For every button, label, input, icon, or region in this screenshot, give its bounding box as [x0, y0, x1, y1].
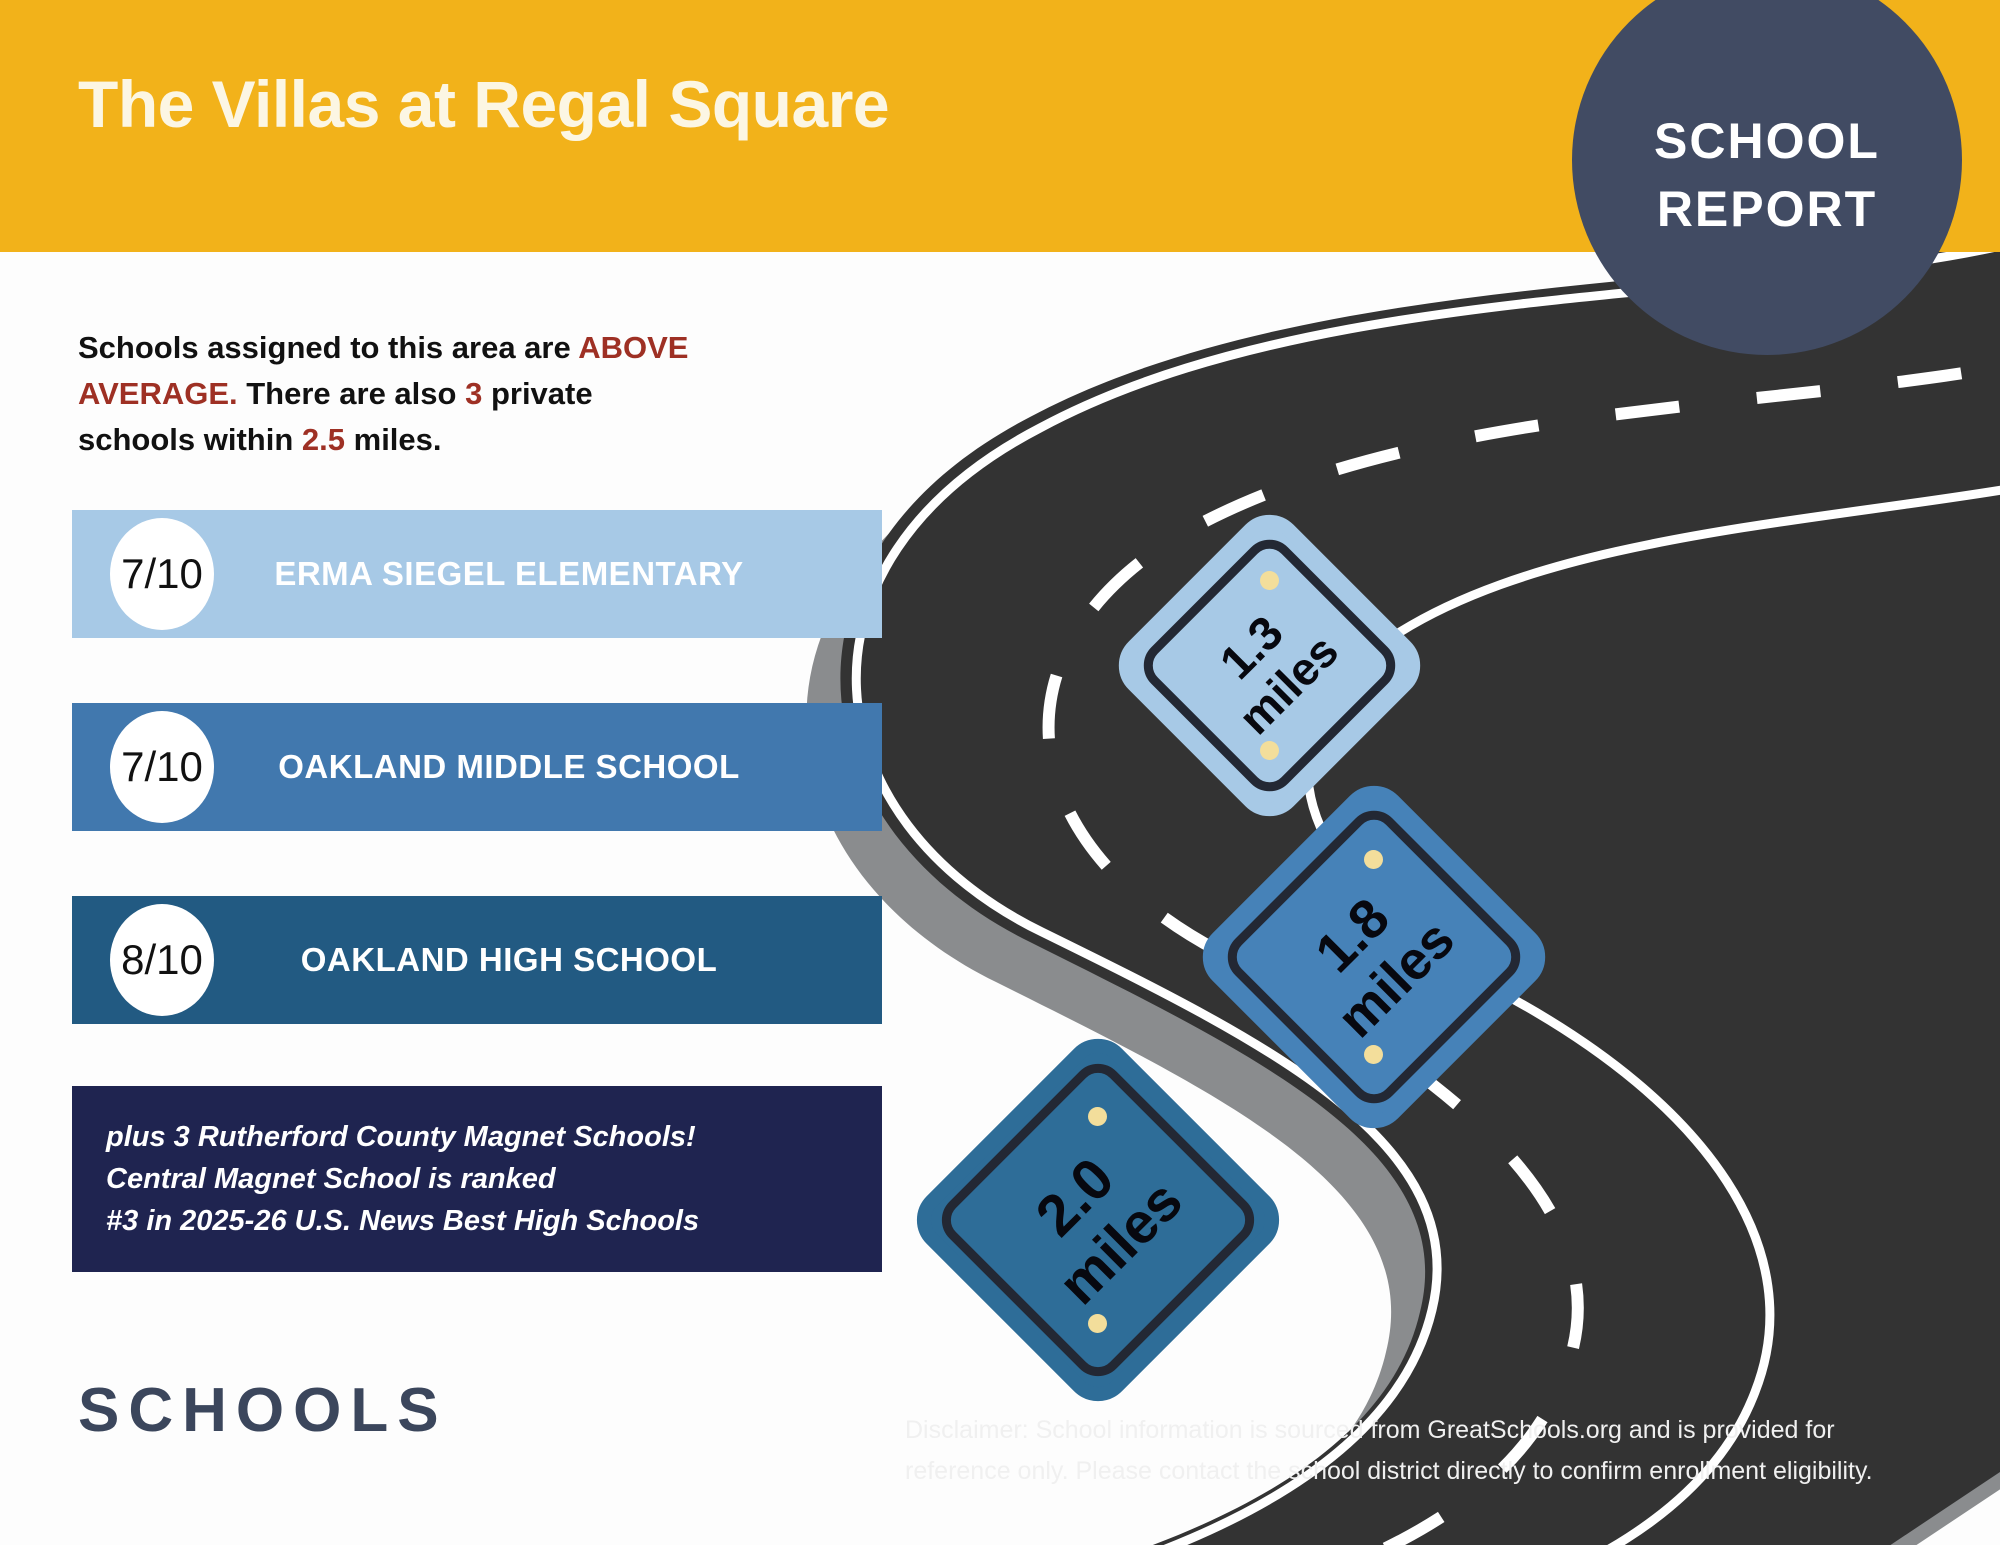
intro-highlight-count: 3: [465, 376, 482, 411]
magnet-schools-callout: plus 3 Rutherford County Magnet Schools!…: [72, 1086, 882, 1272]
sign-bolt-icon-top: [1088, 1107, 1107, 1126]
distance-sign-high: 2.0 miles: [960, 1082, 1236, 1358]
disclaimer: Disclaimer: School information is source…: [905, 1410, 1985, 1493]
school-row-middle[interactable]: 7/10 OAKLAND MIDDLE SCHOOL: [72, 703, 882, 831]
magnet-line-2: Central Magnet School is ranked: [106, 1158, 882, 1200]
school-report-badge: SCHOOL REPORT: [1572, 0, 1962, 355]
intro-highlight-distance: 2.5: [302, 422, 345, 457]
page-title: The Villas at Regal Square: [78, 66, 889, 142]
distance-sign-elementary: 1.3 miles: [1153, 549, 1386, 782]
sign-bolt-icon-top: [1260, 571, 1279, 590]
intro-text-part2: There are also: [238, 376, 465, 411]
disclaimer-line-2: reference only. Please contact the schoo…: [905, 1451, 1985, 1492]
rating-value: 7/10: [121, 550, 203, 598]
school-row-elementary[interactable]: 7/10 ERMA SIEGEL ELEMENTARY: [72, 510, 882, 638]
disclaimer-line-1: Disclaimer: School information is source…: [905, 1410, 1985, 1451]
intro-text-part1: Schools assigned to this area are: [78, 330, 578, 365]
schools-wordmark: SCHOOLS: [78, 1375, 448, 1446]
rating-value: 8/10: [121, 936, 203, 984]
rating-badge: 8/10: [110, 904, 214, 1016]
magnet-line-3: #3 in 2025-26 U.S. News Best High School…: [106, 1200, 882, 1242]
rating-value: 7/10: [121, 743, 203, 791]
school-row-high[interactable]: 8/10 OAKLAND HIGH SCHOOL: [72, 896, 882, 1024]
school-list: 7/10 ERMA SIEGEL ELEMENTARY 7/10 OAKLAND…: [72, 510, 882, 1089]
sign-bolt-icon-bottom: [1088, 1314, 1107, 1333]
intro-text-part4: miles.: [345, 422, 442, 457]
badge-line-school: SCHOOL: [1654, 116, 1880, 166]
sign-bolt-icon-bottom: [1364, 1045, 1383, 1064]
sign-bolt-icon-bottom: [1260, 741, 1279, 760]
badge-line-report: REPORT: [1657, 184, 1877, 234]
sign-bolt-icon-top: [1364, 850, 1383, 869]
rating-badge: 7/10: [110, 518, 214, 630]
magnet-line-1: plus 3 Rutherford County Magnet Schools!: [106, 1116, 882, 1158]
rating-badge: 7/10: [110, 711, 214, 823]
distance-sign-middle: 1.8 miles: [1243, 826, 1505, 1088]
intro-paragraph: Schools assigned to this area are ABOVE …: [78, 325, 698, 463]
